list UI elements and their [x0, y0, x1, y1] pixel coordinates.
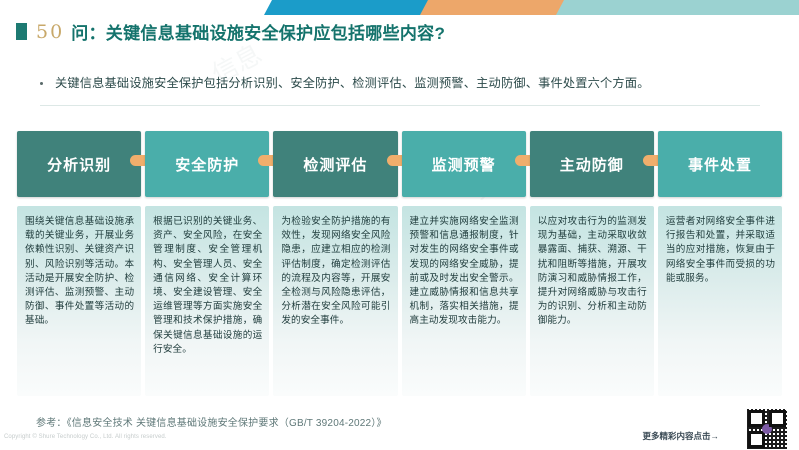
qr-center-logo	[762, 424, 772, 434]
flow-chip-label: 监测预警	[432, 154, 496, 175]
top-ribbon-decoration	[0, 0, 799, 15]
question-title: 问：关键信息基础设施安全保护应包括哪些内容?	[71, 19, 445, 44]
bullet-dot-icon	[40, 82, 43, 85]
flow-panel-text: 运营者对网络安全事件进行报告和处置，并采取适当的应对措施，恢复由于网络安全事件而…	[666, 215, 775, 286]
flow-chip-2[interactable]: 安全防护	[145, 131, 269, 197]
intro-bullet-row: 关键信息基础设施安全保护包括分析识别、安全防护、检测评估、监测预警、主动防御、事…	[40, 75, 650, 92]
six-aspect-flow: 分析识别围绕关键信息基础设施承载的关键业务，开展业务依赖性识别、关键资产识别、风…	[17, 131, 782, 396]
question-number: 50	[36, 21, 64, 43]
ribbon-segment-orange	[420, 0, 568, 15]
flow-chip-5[interactable]: 主动防御	[530, 131, 654, 197]
slide-canvas: 信息 安全 规范 50 问：关键信息基础设施安全保护应包括哪些内容? 关键信息基…	[0, 0, 799, 450]
copyright-text: Copyright © Shure Technology Co., Ltd. A…	[4, 434, 167, 440]
flow-panel-text: 根据已识别的关键业务、资产、安全风险，在安全管理制度、安全管理机构、安全管理人员…	[153, 215, 262, 357]
header-divider	[40, 105, 760, 106]
flow-chip-label: 检测评估	[303, 154, 367, 175]
flow-column: 安全防护根据已识别的关键业务、资产、安全风险，在安全管理制度、安全管理机构、安全…	[145, 131, 269, 396]
flow-chip-label: 事件处置	[688, 154, 752, 175]
ribbon-segment-blue	[264, 0, 432, 15]
flow-chip-1[interactable]: 分析识别	[17, 131, 141, 197]
flow-column: 分析识别围绕关键信息基础设施承载的关键业务，开展业务依赖性识别、关键资产识别、风…	[17, 131, 141, 396]
flow-panel-text: 以应对攻击行为的监测发现为基础，主动采取收敛暴露面、捕获、溯源、干扰和阻断等措施…	[538, 215, 647, 329]
flow-panel-6: 运营者对网络安全事件进行报告和处置，并采取适当的应对措施，恢复由于网络安全事件而…	[658, 206, 782, 396]
title-marker-square	[16, 23, 27, 40]
intro-text: 关键信息基础设施安全保护包括分析识别、安全防护、检测评估、监测预警、主动防御、事…	[55, 75, 650, 92]
cta-text: 更多精彩内容点击→	[642, 430, 719, 442]
flow-panel-5: 以应对攻击行为的监测发现为基础，主动采取收敛暴露面、捕获、溯源、干扰和阻断等措施…	[530, 206, 654, 396]
qr-finder-bottom-left	[748, 431, 765, 448]
ribbon-segment-teal	[556, 0, 799, 15]
flow-chip-label: 安全防护	[175, 154, 239, 175]
flow-panel-text: 建立并实施网络安全监测预警和信息通报制度，针对发生的网络安全事件或发现的网络安全…	[410, 215, 519, 329]
flow-column: 检测评估为检验安全防护措施的有效性，发现网络安全风险隐患，应建立相应的检测评估制…	[273, 131, 397, 396]
flow-chip-label: 主动防御	[560, 154, 624, 175]
flow-column: 监测预警建立并实施网络安全监测预警和信息通报制度，针对发生的网络安全事件或发现的…	[402, 131, 526, 396]
flow-panel-2: 根据已识别的关键业务、资产、安全风险，在安全管理制度、安全管理机构、安全管理人员…	[145, 206, 269, 396]
flow-panel-1: 围绕关键信息基础设施承载的关键业务，开展业务依赖性识别、关键资产识别、风险识别等…	[17, 206, 141, 396]
flow-panel-text: 为检验安全防护措施的有效性，发现网络安全风险隐患，应建立相应的检测评估制度，确定…	[281, 215, 390, 329]
qr-code-icon[interactable]	[747, 409, 787, 449]
flow-panel-text: 围绕关键信息基础设施承载的关键业务，开展业务依赖性识别、关键资产识别、风险识别等…	[25, 215, 134, 329]
flow-column: 主动防御以应对攻击行为的监测发现为基础，主动采取收敛暴露面、捕获、溯源、干扰和阻…	[530, 131, 654, 396]
flow-chip-3[interactable]: 检测评估	[273, 131, 397, 197]
flow-panel-3: 为检验安全防护措施的有效性，发现网络安全风险隐患，应建立相应的检测评估制度，确定…	[273, 206, 397, 396]
flow-column: 事件处置运营者对网络安全事件进行报告和处置，并采取适当的应对措施，恢复由于网络安…	[658, 131, 782, 396]
flow-panel-4: 建立并实施网络安全监测预警和信息通报制度，针对发生的网络安全事件或发现的网络安全…	[402, 206, 526, 396]
flow-chip-label: 分析识别	[47, 154, 111, 175]
flow-chip-4[interactable]: 监测预警	[402, 131, 526, 197]
reference-note: 参考：《信息安全技术 关键信息基础设施安全保护要求（GB/T 39204-202…	[36, 414, 387, 429]
page-title: 50 问：关键信息基础设施安全保护应包括哪些内容?	[16, 19, 445, 44]
flow-chip-6[interactable]: 事件处置	[658, 131, 782, 197]
